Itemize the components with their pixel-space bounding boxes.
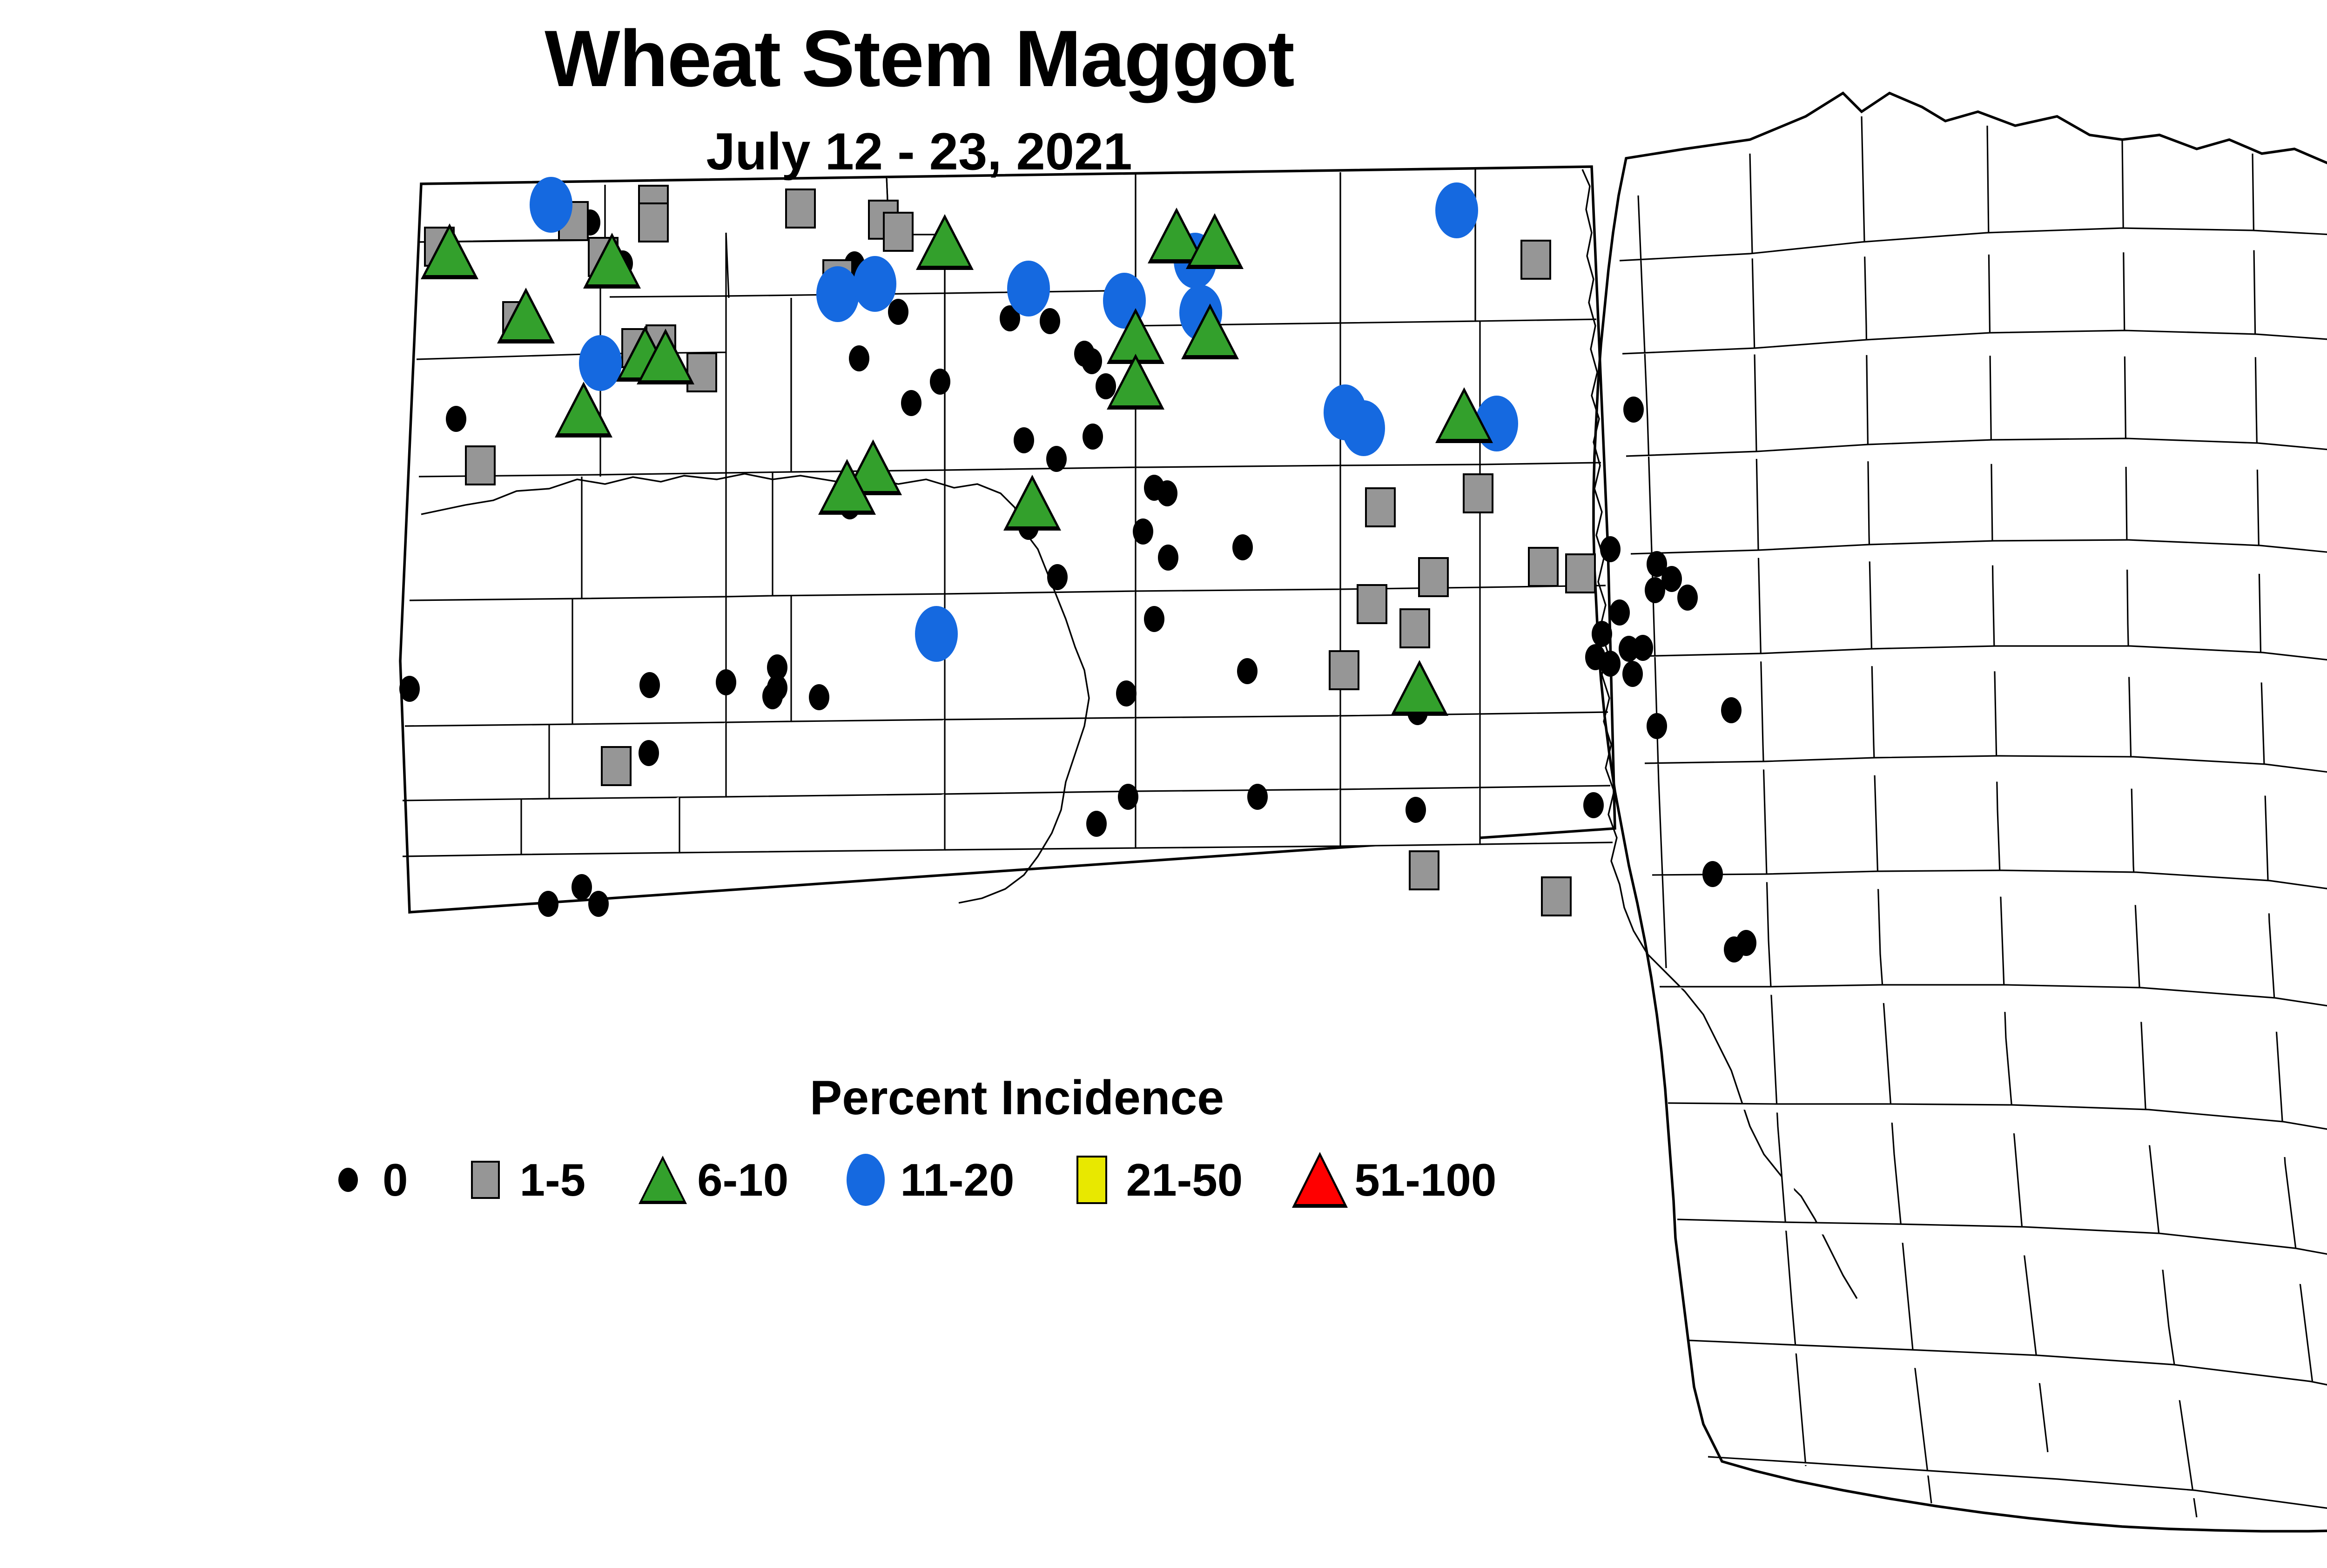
survey-point-11to20	[816, 266, 859, 322]
dot-icon	[326, 1168, 370, 1192]
survey-point-6to10	[916, 214, 974, 270]
survey-point-0	[1622, 661, 1643, 687]
survey-point-1to5	[1565, 553, 1596, 593]
survey-point-0	[1157, 480, 1177, 506]
survey-point-0	[1118, 784, 1138, 810]
legend-label-3: 11-20	[900, 1157, 1014, 1203]
survey-point-1to5	[1528, 547, 1559, 587]
survey-point-0	[1047, 564, 1068, 590]
legend-item-4[interactable]: 21-50	[1069, 1143, 1243, 1217]
survey-point-0	[1592, 621, 1612, 647]
survey-point-0	[1583, 792, 1604, 818]
legend-item-1[interactable]: 1-5	[463, 1143, 586, 1217]
survey-point-0	[446, 406, 466, 432]
survey-point-1to5	[785, 188, 816, 229]
survey-point-1to5	[465, 445, 496, 485]
survey-point-6to10	[421, 223, 478, 279]
survey-point-0	[1406, 797, 1426, 823]
survey-point-0	[1633, 635, 1653, 661]
survey-point-11to20	[854, 256, 896, 312]
legend-label-4: 21-50	[1126, 1157, 1243, 1203]
survey-point-6to10	[583, 233, 641, 289]
survey-point-6to10	[1186, 213, 1244, 269]
survey-point-0	[1724, 936, 1744, 962]
legend-item-5[interactable]: 51-100	[1298, 1143, 1496, 1217]
survey-point-6to10	[1107, 354, 1164, 410]
survey-point-0	[1014, 427, 1034, 453]
legend: 0 1-5 6-10 11-20 21-50 51-100	[326, 1143, 1496, 1217]
survey-point-0	[572, 874, 592, 900]
legend-item-3[interactable]: 11-20	[843, 1143, 1014, 1217]
legend-label-2: 6-10	[697, 1157, 788, 1203]
survey-point-0	[849, 345, 869, 371]
survey-point-0	[1609, 599, 1630, 626]
survey-point-6to10	[1435, 387, 1493, 443]
survey-point-0	[930, 369, 950, 395]
survey-point-0	[1133, 518, 1153, 545]
legend-label-0: 0	[383, 1157, 408, 1203]
survey-point-11to20	[915, 606, 958, 662]
survey-point-0	[1600, 651, 1621, 677]
survey-point-0	[809, 684, 829, 710]
survey-point-0	[1702, 861, 1723, 887]
survey-point-11to20	[1435, 182, 1478, 238]
survey-point-0	[1237, 658, 1258, 684]
survey-point-6to10	[1391, 660, 1448, 716]
survey-point-11to20	[1342, 400, 1385, 456]
survey-point-0	[1721, 697, 1742, 723]
minnesota-counties	[1582, 93, 2327, 1531]
survey-point-0	[1623, 397, 1644, 423]
survey-point-0	[588, 891, 609, 917]
survey-point-1to5	[1463, 473, 1493, 513]
survey-point-0	[399, 676, 420, 702]
north-dakota-counties	[400, 167, 1615, 912]
survey-point-11to20	[1007, 261, 1050, 316]
survey-point-0	[888, 299, 908, 325]
survey-point-0	[1645, 577, 1665, 603]
survey-point-0	[1086, 811, 1107, 837]
survey-point-1to5	[883, 212, 914, 252]
survey-point-0	[1144, 606, 1164, 632]
survey-point-1to5	[1365, 487, 1396, 527]
red-triangle-icon	[1298, 1152, 1342, 1208]
survey-point-1to5	[1541, 876, 1572, 916]
survey-point-1to5	[1329, 650, 1359, 690]
survey-point-0	[1232, 534, 1253, 560]
green-triangle-icon	[640, 1156, 685, 1204]
legend-title: Percent Incidence	[0, 1070, 2034, 1126]
survey-point-0	[1600, 536, 1621, 562]
survey-point-0	[1677, 585, 1698, 611]
survey-point-0	[639, 740, 659, 766]
survey-point-0	[1082, 348, 1102, 374]
survey-point-6to10	[497, 288, 555, 343]
survey-point-0	[1158, 545, 1178, 571]
survey-point-0	[716, 669, 736, 695]
survey-point-0	[1647, 713, 1667, 739]
survey-point-1to5	[601, 746, 632, 786]
survey-point-11to20	[530, 177, 572, 233]
survey-point-0	[1116, 680, 1137, 707]
survey-point-6to10	[555, 382, 612, 437]
legend-label-1: 1-5	[520, 1157, 586, 1203]
survey-point-0	[901, 390, 921, 416]
survey-point-1to5	[1520, 240, 1551, 280]
survey-point-6to10	[1181, 303, 1239, 359]
survey-point-6to10	[1003, 475, 1061, 531]
legend-item-2[interactable]: 6-10	[640, 1143, 788, 1217]
survey-point-0	[762, 683, 783, 709]
survey-point-0	[1083, 424, 1103, 450]
legend-item-0[interactable]: 0	[326, 1143, 408, 1217]
survey-point-0	[1040, 308, 1060, 334]
survey-point-0	[1046, 446, 1067, 472]
survey-point-6to10	[818, 459, 876, 515]
survey-point-1to5	[1418, 557, 1449, 597]
gray-square-icon	[463, 1161, 508, 1199]
survey-point-0	[1247, 784, 1268, 810]
legend-label-5: 51-100	[1354, 1157, 1496, 1203]
survey-point-1to5	[1399, 608, 1430, 648]
survey-point-1to5	[1409, 850, 1439, 890]
survey-point-0	[538, 891, 558, 917]
yellow-square-icon	[1069, 1156, 1114, 1204]
blue-circle-icon	[843, 1154, 888, 1206]
survey-point-0	[639, 672, 660, 698]
survey-point-6to10	[637, 329, 694, 384]
survey-point-1to5	[1357, 584, 1387, 624]
survey-point-1to5	[638, 202, 669, 242]
map-canvas: Wheat Stem Maggot July 12 - 23, 2021	[0, 0, 2327, 1568]
